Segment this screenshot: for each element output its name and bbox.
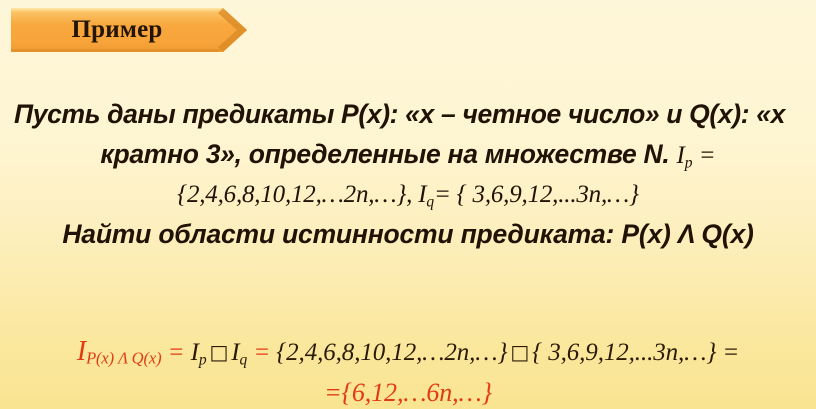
formula-line-2-result: ={6,12,…6n,…} <box>8 375 808 409</box>
term-iq-symbol: I <box>231 339 239 366</box>
equals-sign-1: = <box>162 339 191 366</box>
term-ip-symbol: I <box>191 339 199 366</box>
equals-sign-2: = <box>247 339 276 366</box>
lesson-body: Пусть даны предикаты P(x): «x – четное ч… <box>8 94 808 254</box>
truth-set-symbol: I <box>77 336 86 367</box>
slide-canvas: Пример Пусть даны предикаты P(x): «x – ч… <box>0 0 816 409</box>
body-line-3: {2,4,6,8,10,12,…2n,…}, Iq= { 3,6,9,12,..… <box>8 176 808 214</box>
task-statement-text: Найти области истинности предиката: P(x)… <box>62 219 753 249</box>
formula-set-q: { 3,6,9,12,...3n,…} <box>532 339 716 366</box>
body-line-2-prefix: кратно 3», определенные на множестве N. <box>100 139 676 169</box>
solution-formula: IP(x) Λ Q(x) = Ip□Iq = {2,4,6,8,10,12,…2… <box>8 334 808 409</box>
intersection-operator-1-icon: □ <box>206 340 231 364</box>
body-line-1: Пусть даны предикаты P(x): «x – четное ч… <box>8 94 808 134</box>
body-line-4: Найти области истинности предиката: P(x)… <box>8 214 808 254</box>
equals-sign-3: = <box>716 339 739 366</box>
set-q-elements: = { 3,6,9,12,...3n,…} <box>434 181 639 208</box>
set-p-elements: {2,4,6,8,10,12,…2n,…}, <box>177 181 418 208</box>
set-symbol-ip: I <box>676 142 684 169</box>
formula-set-p: {2,4,6,8,10,12,…2n,…} <box>276 339 507 366</box>
set-subscript-q: q <box>426 193 434 210</box>
body-line-2-math-suffix: = <box>693 142 716 169</box>
body-line-2: кратно 3», определенные на множестве N. … <box>8 134 808 176</box>
example-arrow-banner: Пример <box>9 6 249 54</box>
body-line-1-text: Пусть даны предикаты P(x): «x – четное ч… <box>14 99 785 129</box>
set-subscript-p: p <box>685 154 693 171</box>
banner-title: Пример <box>9 6 225 54</box>
intersection-operator-2-icon: □ <box>507 340 532 364</box>
formula-line-1: IP(x) Λ Q(x) = Ip□Iq = {2,4,6,8,10,12,…2… <box>8 334 808 375</box>
truth-set-subscript: P(x) Λ Q(x) <box>86 348 161 367</box>
body-line-2-math: Ip = <box>676 142 715 169</box>
